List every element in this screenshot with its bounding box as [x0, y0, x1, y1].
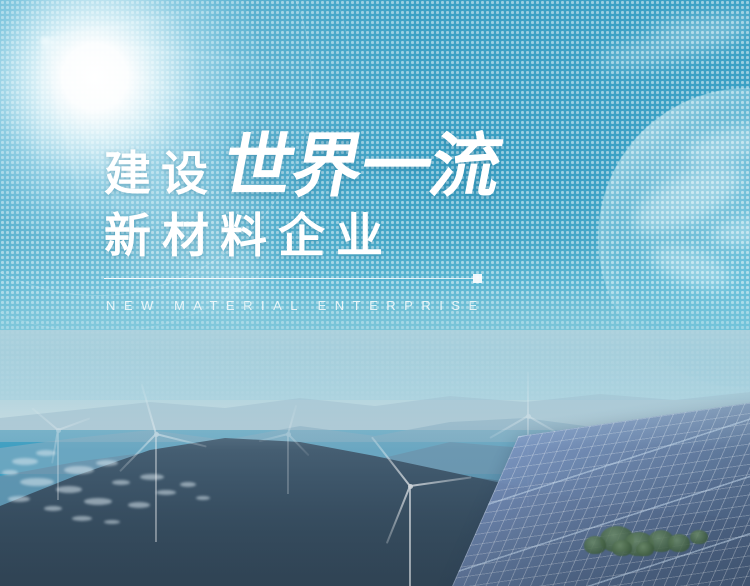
turbine-blade [287, 433, 309, 456]
turbine-mast [409, 486, 412, 586]
divider-square-cap [473, 274, 482, 283]
headline-line-2: 新材料企业 [104, 212, 394, 259]
turbine-blade [259, 433, 289, 442]
snow-patch [2, 470, 18, 475]
turbine-blade [31, 407, 58, 430]
shrub [636, 542, 654, 556]
turbine-blade [371, 437, 411, 487]
hero-banner: 建设 世界一流 新材料企业 NEW MATERIAL ENTERPRISE [0, 0, 750, 586]
turbine-mast [155, 434, 158, 542]
headline-subtitle: NEW MATERIAL ENTERPRISE [106, 298, 486, 313]
wind-turbine [348, 424, 472, 586]
headline-accent: 世界一流 [217, 131, 507, 201]
snow-patch [72, 516, 92, 521]
snow-patch [44, 506, 62, 511]
turbine-blade [287, 405, 297, 434]
shrub [584, 536, 606, 554]
wind-turbine [258, 404, 318, 494]
turbine-mast [287, 434, 290, 494]
turbine-blade [410, 476, 472, 487]
divider-line [104, 278, 474, 279]
wind-turbine [104, 382, 208, 542]
turbine-blade [386, 486, 411, 544]
headline-prefix: 建设 [104, 150, 218, 201]
turbine-blade [141, 384, 157, 435]
turbine-blade [58, 417, 91, 431]
shrub [668, 534, 690, 552]
wind-turbine [24, 396, 92, 500]
shrub [690, 530, 708, 544]
turbine-blade [156, 433, 207, 448]
headline-line-1: 建设 世界一流 [104, 131, 500, 201]
shrub [612, 540, 632, 556]
turbine-blade [527, 372, 529, 416]
headline-divider [104, 274, 482, 283]
turbine-blade [119, 433, 157, 472]
landscape-photo [0, 330, 750, 586]
